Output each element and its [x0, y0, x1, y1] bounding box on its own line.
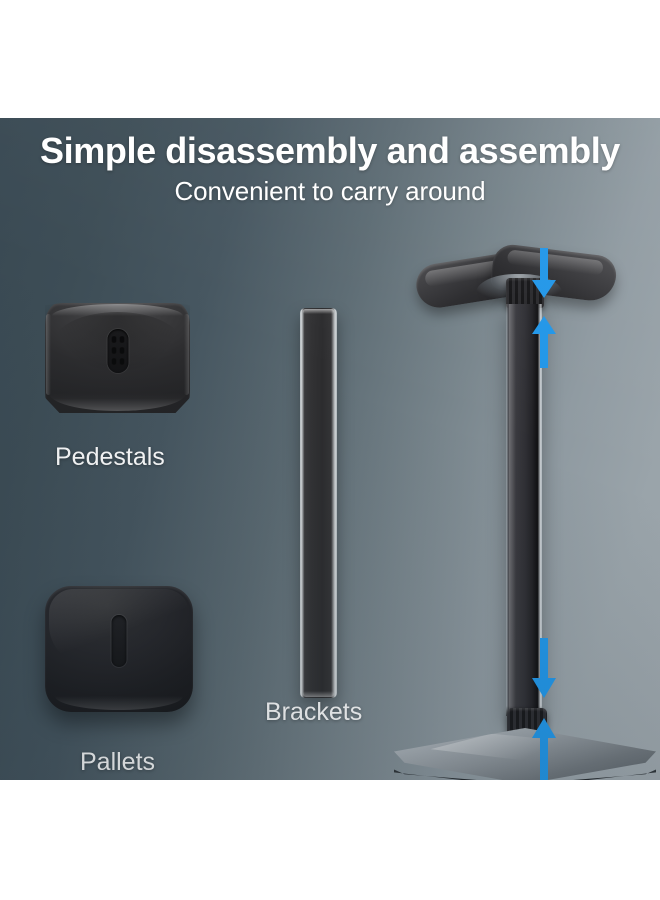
assembly-arrow-base-down [531, 638, 557, 700]
assembled-headphone-stand [388, 238, 660, 780]
socket-hole [111, 336, 116, 343]
pole-highlight [509, 304, 516, 716]
assembly-arrow-top-down [531, 248, 557, 300]
part-bracket [300, 308, 337, 698]
product-marketing-image: Simple disassembly and assembly Convenie… [0, 0, 660, 900]
image-content-band: Simple disassembly and assembly Convenie… [0, 118, 660, 780]
base-plate-sheen [431, 734, 583, 761]
pallet-mount-slot [112, 615, 127, 667]
subheadline: Convenient to carry around [0, 176, 660, 207]
bracket-bottom-cap [303, 691, 334, 697]
stand-base-plate [394, 728, 656, 780]
pallet-bottom-rim [55, 696, 182, 710]
part-label-pallets: Pallets [80, 748, 155, 777]
pedestal-left-edge [46, 314, 51, 395]
part-pallet [45, 586, 193, 712]
socket-hole [119, 347, 124, 354]
pallet-body [45, 586, 193, 712]
socket-hole [119, 358, 124, 365]
socket-hole [111, 347, 116, 354]
assembly-arrow-top-up [531, 314, 557, 370]
socket-hole [111, 358, 116, 365]
socket-hole [119, 336, 124, 343]
pedestal-bottom-lip [49, 393, 185, 411]
part-label-brackets: Brackets [265, 698, 362, 727]
pedestal-top-lip [52, 304, 183, 316]
headline: Simple disassembly and assembly [0, 130, 660, 172]
part-pedestal [45, 303, 190, 413]
bracket-body [300, 308, 337, 698]
bracket-top-cap [303, 309, 334, 314]
assembly-arrow-base-up [531, 716, 557, 780]
part-label-pedestals: Pedestals [55, 443, 165, 472]
pedestal-right-edge [184, 314, 189, 395]
base-plate-top-face [394, 728, 656, 780]
pedestal-mount-socket [107, 329, 128, 373]
pedestal-body [45, 303, 190, 413]
